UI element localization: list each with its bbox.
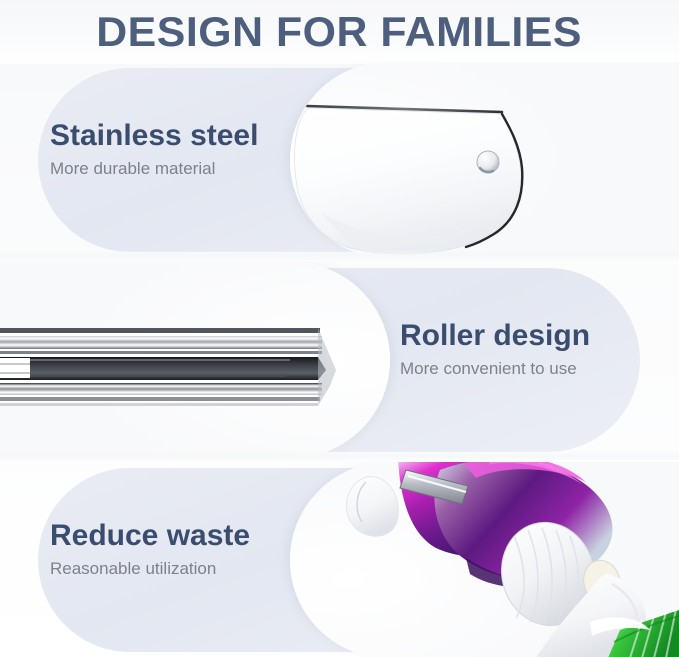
card-heading: Roller design xyxy=(400,320,590,352)
product-infographic: DESIGN FOR FAMILIES xyxy=(0,0,679,657)
page-title: DESIGN FOR FAMILIES xyxy=(97,11,583,53)
card-text-block: Stainless steel More durable material xyxy=(50,120,258,178)
card-text-block: Reduce waste Reasonable utilization xyxy=(50,520,250,578)
feature-card-roller-design: Roller design More convenient to use xyxy=(0,262,679,458)
card-heading: Stainless steel xyxy=(50,120,258,152)
card-subtext: Reasonable utilization xyxy=(50,560,250,579)
card-heading: Reduce waste xyxy=(50,520,250,552)
feature-card-reduce-waste: Reduce waste Reasonable utilization xyxy=(0,462,679,657)
toothpaste-illustration xyxy=(290,462,679,657)
stainless-steel-blade-image xyxy=(290,62,679,258)
metal-roller-bar-image xyxy=(0,262,390,458)
blade-body xyxy=(295,108,521,254)
blade-illustration xyxy=(290,62,679,258)
card-subtext: More convenient to use xyxy=(400,360,590,379)
card-subtext: More durable material xyxy=(50,160,258,179)
toothpaste-tube-squeezer-image xyxy=(290,462,679,657)
card-text-block: Roller design More convenient to use xyxy=(400,320,590,378)
infographic-header: DESIGN FOR FAMILIES xyxy=(0,0,679,64)
roller-illustration xyxy=(0,262,390,458)
roller-bar-body xyxy=(0,328,336,406)
feature-card-stainless-steel: Stainless steel More durable material xyxy=(0,62,679,258)
